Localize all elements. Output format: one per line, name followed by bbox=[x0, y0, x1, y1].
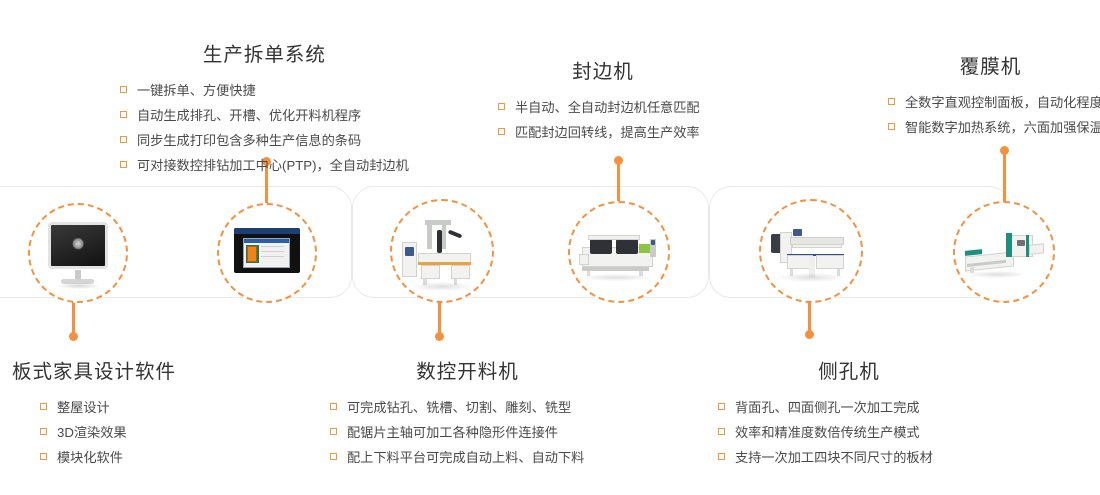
list-item: 配上下料平台可完成自动上料、自动下料 bbox=[330, 445, 605, 470]
list-item: 同步生成打印包含多种生产信息的条码 bbox=[120, 128, 409, 153]
list-item: 全数字直观控制面板，自动化程度高 bbox=[888, 90, 1100, 115]
bullet-square-icon bbox=[888, 98, 895, 105]
connector-line-edge-banding bbox=[617, 160, 620, 206]
feature-list: 整屋设计 3D渲染效果 模块化软件 bbox=[12, 395, 176, 470]
list-item-label: 效率和精准度数倍传统生产模式 bbox=[735, 425, 920, 440]
list-item-label: 3D渲染效果 bbox=[57, 425, 127, 440]
text-block-design-software: 板式家具设计软件 整屋设计 3D渲染效果 模块化软件 bbox=[12, 355, 176, 470]
section-title: 数控开料机 bbox=[330, 355, 605, 384]
connector-dot-design-software bbox=[69, 332, 78, 341]
list-item: 整屋设计 bbox=[40, 395, 176, 420]
text-block-cnc-cutting: 数控开料机 可完成钻孔、铣槽、切割、雕刻、铣型 配锯片主轴可加工各种隐形件连接件… bbox=[330, 355, 605, 470]
infographic-canvas: 生产拆单系统 一键拆单、方便快捷 自动生成排孔、开槽、优化开料机程序 同步生成打… bbox=[0, 0, 1100, 495]
bullet-square-icon bbox=[330, 428, 337, 435]
list-item: 一键拆单、方便快捷 bbox=[120, 78, 409, 103]
list-item: 自动生成排孔、开槽、优化开料机程序 bbox=[120, 103, 409, 128]
list-item: 智能数字加热系统，六面加强保温 bbox=[888, 115, 1100, 140]
text-block-laminating: 覆膜机 全数字直观控制面板，自动化程度高 智能数字加热系统，六面加强保温 bbox=[888, 50, 1100, 140]
section-title: 侧孔机 bbox=[718, 355, 980, 384]
bullet-square-icon bbox=[120, 86, 127, 93]
list-item-label: 半自动、全自动封边机任意匹配 bbox=[515, 100, 700, 115]
bullet-square-icon bbox=[40, 403, 47, 410]
text-block-side-drilling: 侧孔机 背面孔、四面侧孔一次加工完成 效率和精准度数倍传统生产模式 支持一次加工… bbox=[718, 355, 980, 470]
list-item-label: 整屋设计 bbox=[57, 400, 110, 415]
connector-line-design-software bbox=[72, 298, 75, 336]
bullet-square-icon bbox=[498, 103, 505, 110]
list-item: 可完成钻孔、铣槽、切割、雕刻、铣型 bbox=[330, 395, 605, 420]
bullet-square-icon bbox=[40, 428, 47, 435]
feature-list: 可完成钻孔、铣槽、切割、雕刻、铣型 配锯片主轴可加工各种隐形件连接件 配上下料平… bbox=[330, 395, 605, 470]
text-block-edge-banding: 封边机 半自动、全自动封边机任意匹配 匹配封边回转线，提高生产效率 bbox=[498, 55, 708, 145]
bullet-square-icon bbox=[498, 128, 505, 135]
list-item: 3D渲染效果 bbox=[40, 420, 176, 445]
section-title: 板式家具设计软件 bbox=[12, 355, 176, 384]
list-item: 可对接数控排钻加工中心(PTP)，全自动封边机 bbox=[120, 153, 409, 178]
connector-dot-edge-banding bbox=[614, 156, 623, 165]
text-block-production-system: 生产拆单系统 一键拆单、方便快捷 自动生成排孔、开槽、优化开料机程序 同步生成打… bbox=[120, 38, 409, 178]
connector-dot-laminating bbox=[1000, 146, 1009, 155]
bullet-square-icon bbox=[330, 403, 337, 410]
node-design-software[interactable] bbox=[28, 203, 128, 303]
list-item-label: 配上下料平台可完成自动上料、自动下料 bbox=[347, 450, 584, 465]
bullet-square-icon bbox=[120, 136, 127, 143]
list-item: 背面孔、四面侧孔一次加工完成 bbox=[718, 395, 980, 420]
list-item-label: 全数字直观控制面板，自动化程度高 bbox=[905, 95, 1100, 110]
feature-list: 背面孔、四面侧孔一次加工完成 效率和精准度数倍传统生产模式 支持一次加工四块不同… bbox=[718, 395, 980, 470]
bullet-square-icon bbox=[40, 453, 47, 460]
list-item-label: 同步生成打印包含多种生产信息的条码 bbox=[137, 133, 361, 148]
desktop-monitor-icon bbox=[37, 212, 120, 295]
bullet-square-icon bbox=[120, 161, 127, 168]
feature-list: 全数字直观控制面板，自动化程度高 智能数字加热系统，六面加强保温 bbox=[888, 90, 1100, 140]
bullet-square-icon bbox=[120, 111, 127, 118]
list-item-label: 模块化软件 bbox=[57, 450, 123, 465]
list-item: 半自动、全自动封边机任意匹配 bbox=[498, 95, 708, 120]
list-item: 配锯片主轴可加工各种隐形件连接件 bbox=[330, 420, 605, 445]
node-side-drilling[interactable] bbox=[759, 199, 863, 303]
list-item-label: 可完成钻孔、铣槽、切割、雕刻、铣型 bbox=[347, 400, 571, 415]
list-item: 匹配封边回转线，提高生产效率 bbox=[498, 120, 708, 145]
bullet-square-icon bbox=[330, 453, 337, 460]
side-drilling-machine-icon bbox=[768, 208, 854, 294]
list-item-label: 配锯片主轴可加工各种隐形件连接件 bbox=[347, 425, 558, 440]
list-item-label: 可对接数控排钻加工中心(PTP)，全自动封边机 bbox=[137, 158, 409, 173]
section-title: 生产拆单系统 bbox=[120, 38, 409, 67]
section-title: 封边机 bbox=[498, 55, 708, 84]
list-item-label: 智能数字加热系统，六面加强保温 bbox=[905, 120, 1100, 135]
node-production-system[interactable] bbox=[217, 203, 317, 303]
cad-software-screen-icon bbox=[226, 212, 309, 295]
list-item: 支持一次加工四块不同尺寸的板材 bbox=[718, 445, 980, 470]
list-item-label: 支持一次加工四块不同尺寸的板材 bbox=[735, 450, 933, 465]
node-cnc-cutting[interactable] bbox=[390, 199, 494, 303]
list-item-label: 匹配封边回转线，提高生产效率 bbox=[515, 125, 700, 140]
edge-banding-machine-icon bbox=[577, 210, 661, 294]
connector-dot-cnc-cutting bbox=[435, 332, 444, 341]
bullet-square-icon bbox=[718, 428, 725, 435]
connector-line-laminating bbox=[1003, 150, 1006, 202]
node-laminating[interactable] bbox=[953, 201, 1055, 303]
feature-list: 半自动、全自动封边机任意匹配 匹配封边回转线，提高生产效率 bbox=[498, 95, 708, 145]
feature-list: 一键拆单、方便快捷 自动生成排孔、开槽、优化开料机程序 同步生成打印包含多种生产… bbox=[120, 78, 409, 178]
node-edge-banding[interactable] bbox=[568, 201, 670, 303]
bullet-square-icon bbox=[718, 453, 725, 460]
list-item: 效率和精准度数倍传统生产模式 bbox=[718, 420, 980, 445]
laminating-machine-icon bbox=[962, 210, 1046, 294]
list-item-label: 一键拆单、方便快捷 bbox=[137, 83, 256, 98]
list-item-label: 背面孔、四面侧孔一次加工完成 bbox=[735, 400, 920, 415]
cnc-router-machine-icon bbox=[399, 208, 485, 294]
connector-dot-side-drilling bbox=[805, 330, 814, 339]
list-item: 模块化软件 bbox=[40, 445, 176, 470]
section-title: 覆膜机 bbox=[888, 50, 1093, 79]
list-item-label: 自动生成排孔、开槽、优化开料机程序 bbox=[137, 108, 361, 123]
bullet-square-icon bbox=[718, 403, 725, 410]
bullet-square-icon bbox=[888, 123, 895, 130]
